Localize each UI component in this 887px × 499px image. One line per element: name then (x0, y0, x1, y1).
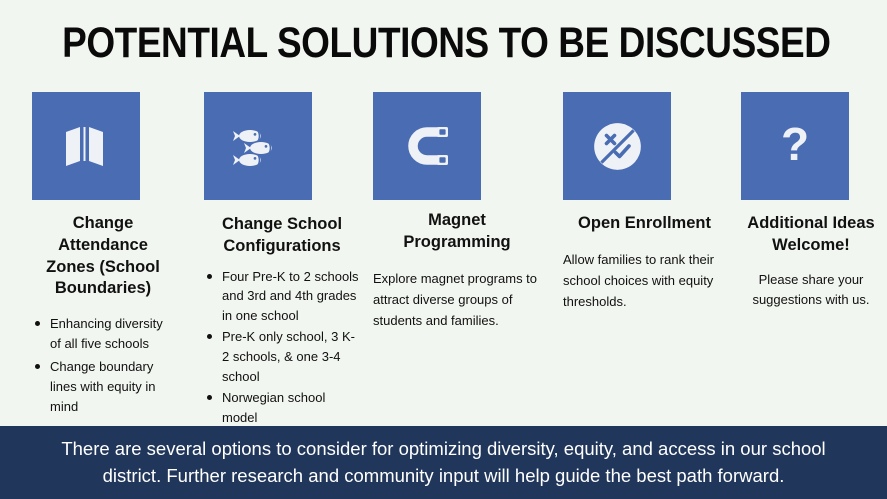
solutions-columns: Change Attendance Zones (School Boundari… (0, 92, 887, 422)
column-paragraph: Please share your suggestions with us. (741, 270, 881, 312)
column-heading: Change School Configurations (204, 214, 360, 258)
column-paragraph: Explore magnet programs to attract diver… (373, 268, 541, 331)
list-item: Enhancing diversity of all five schools (32, 314, 174, 354)
column-heading: Open Enrollment (563, 213, 726, 235)
solution-column-school-configurations: Change School Configurations Four Pre-K … (186, 92, 368, 429)
column-paragraph: Allow families to rank their school choi… (563, 249, 726, 312)
column-heading: Change Attendance Zones (School Boundari… (32, 213, 174, 300)
list-item: Pre-K only school, 3 K-2 schools, & one … (204, 327, 360, 387)
column-heading: Additional Ideas Welcome! (741, 213, 881, 257)
map-icon-tile (32, 92, 140, 200)
choice-check-cross-icon (590, 119, 644, 173)
list-item: Norwegian school model (204, 388, 360, 428)
slide-root: POTENTIAL SOLUTIONS TO BE DISCUSSED Chan… (0, 0, 887, 499)
magnet-icon (401, 120, 453, 172)
fish-school-icon-tile (204, 92, 312, 200)
solution-column-magnet-programming: Magnet Programming Explore magnet progra… (368, 92, 551, 331)
solution-column-open-enrollment: Open Enrollment Allow families to rank t… (551, 92, 734, 312)
summary-banner: There are several options to consider fo… (0, 426, 887, 499)
column-heading: Magnet Programming (373, 210, 541, 254)
question-mark-icon: ? (769, 120, 821, 172)
svg-text:?: ? (781, 120, 809, 170)
column-bullet-list: Four Pre-K to 2 schools and 3rd and 4th … (204, 267, 360, 428)
map-icon (60, 120, 112, 172)
list-item: Change boundary lines with equity in min… (32, 357, 174, 417)
summary-banner-text: There are several options to consider fo… (39, 436, 849, 489)
page-title: POTENTIAL SOLUTIONS TO BE DISCUSSED (62, 22, 825, 65)
fish-school-icon (231, 119, 285, 173)
solution-column-attendance-zones: Change Attendance Zones (School Boundari… (0, 92, 186, 419)
question-mark-icon-tile: ? (741, 92, 849, 200)
magnet-icon-tile (373, 92, 481, 200)
solution-column-additional-ideas: ? Additional Ideas Welcome! Please share… (734, 92, 887, 311)
column-bullet-list: Enhancing diversity of all five schools … (32, 314, 174, 416)
list-item: Four Pre-K to 2 schools and 3rd and 4th … (204, 267, 360, 327)
choice-check-cross-icon-tile (563, 92, 671, 200)
